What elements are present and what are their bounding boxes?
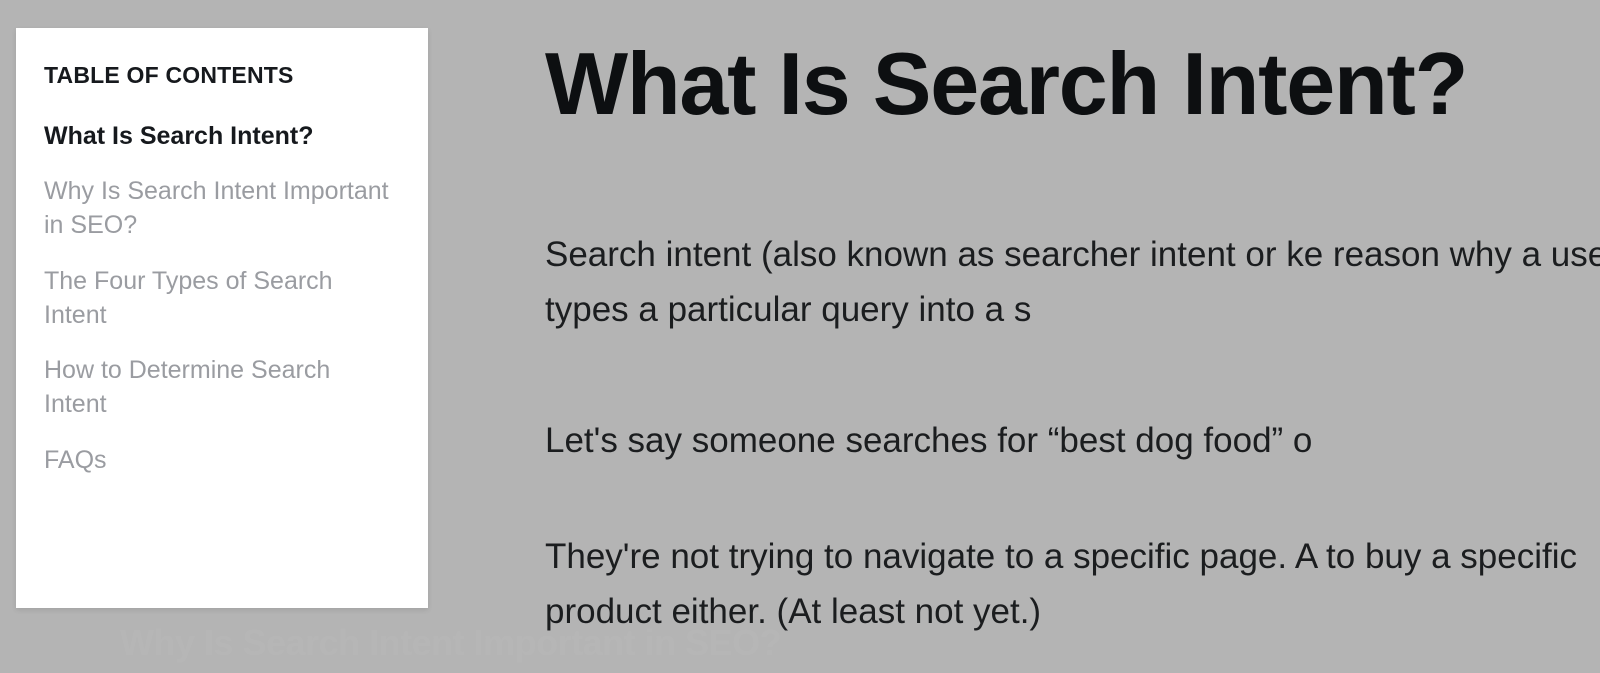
sidebar-item-how-to-determine-search-intent[interactable]: How to Determine Search Intent bbox=[44, 354, 398, 422]
sidebar-item-why-is-search-intent-important-in-seo[interactable]: Why Is Search Intent Important in SEO? bbox=[44, 175, 398, 243]
table-of-contents-title: TABLE OF CONTENTS bbox=[44, 62, 398, 90]
page-title: What Is Search Intent? bbox=[545, 36, 1467, 131]
article-content: What Is Search Intent? Search intent (al… bbox=[545, 0, 1600, 673]
article-paragraph-3: They're not trying to navigate to a spec… bbox=[545, 530, 1600, 639]
table-of-contents-list: What Is Search Intent? Why Is Search Int… bbox=[44, 120, 398, 478]
table-of-contents-card: TABLE OF CONTENTS What Is Search Intent?… bbox=[16, 28, 428, 608]
sidebar-item-what-is-search-intent[interactable]: What Is Search Intent? bbox=[44, 120, 398, 154]
sidebar-item-the-four-types-of-search-intent[interactable]: The Four Types of Search Intent bbox=[44, 265, 398, 333]
article-paragraph-1: Search intent (also known as searcher in… bbox=[545, 228, 1600, 337]
article-paragraph-2: Let's say someone searches for “best dog… bbox=[545, 414, 1600, 469]
page-root: TABLE OF CONTENTS What Is Search Intent?… bbox=[0, 0, 1600, 673]
sidebar-item-faqs[interactable]: FAQs bbox=[44, 444, 398, 478]
